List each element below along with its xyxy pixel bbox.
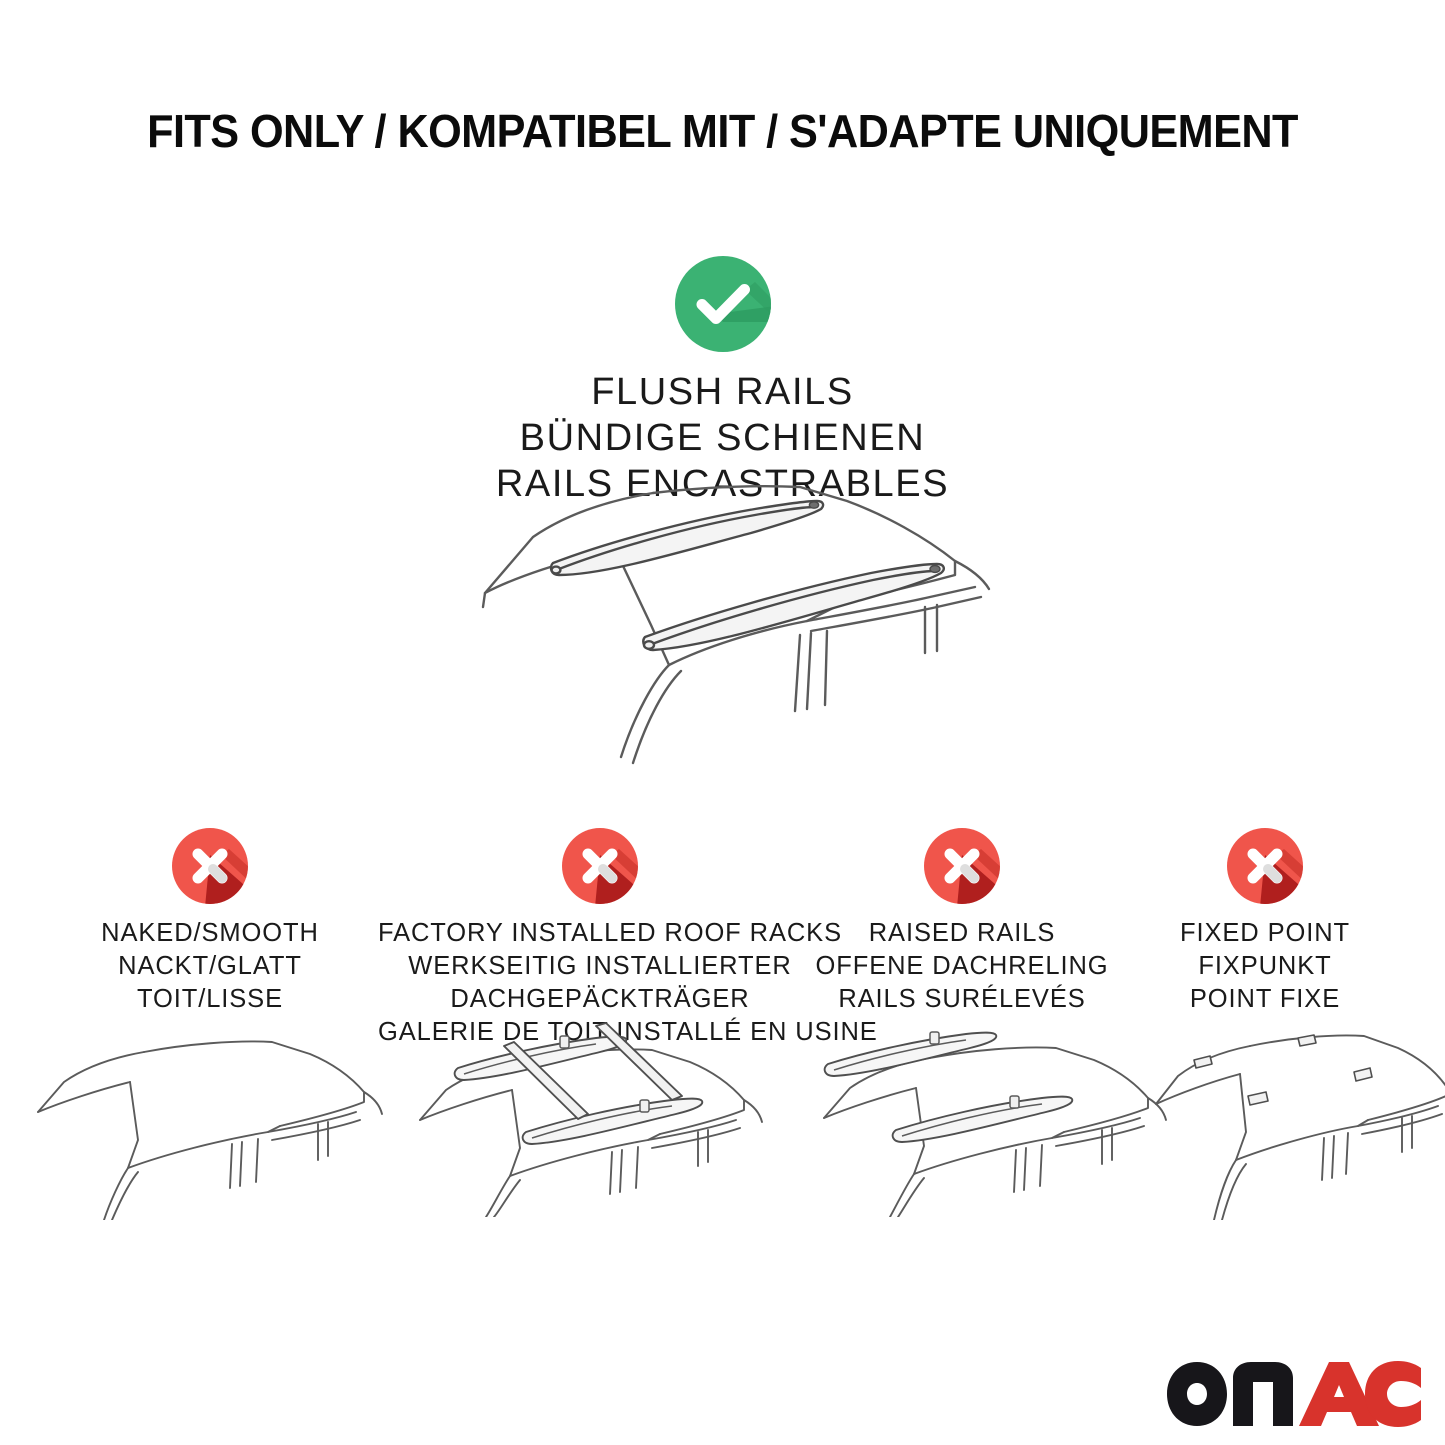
car-roof-raised-rails-illustration <box>812 1012 1172 1217</box>
page-title: FITS ONLY / KOMPATIBEL MIT / S'ADAPTE UN… <box>43 104 1401 158</box>
label-de: FIXPUNKT <box>1125 950 1405 983</box>
logo-letter-o <box>1167 1362 1227 1426</box>
compatible-label-en: FLUSH RAILS <box>0 370 1445 416</box>
brand-logo-omac <box>1163 1356 1425 1434</box>
incompatible-item-naked-smooth: NAKED/SMOOTH NACKT/GLATT TOIT/LISSE <box>60 825 360 1016</box>
car-roof-naked-illustration <box>26 1020 386 1220</box>
x-circle-icon <box>921 825 1003 907</box>
label-fr: TOIT/LISSE <box>60 983 360 1016</box>
label-en: FIXED POINT <box>1125 917 1405 950</box>
label-en: NAKED/SMOOTH <box>60 917 360 950</box>
car-roof-flush-rails-illustration <box>455 465 1015 785</box>
label-de: OFFENE DACHRELING <box>812 950 1112 983</box>
label-en: FACTORY INSTALLED ROOF RACKS <box>378 917 822 950</box>
compatible-label-de: BÜNDIGE SCHIENEN <box>0 416 1445 462</box>
incompatible-item-fixed-point: FIXED POINT FIXPUNKT POINT FIXE <box>1125 825 1405 1016</box>
incompatible-item-raised-rails: RAISED RAILS OFFENE DACHRELING RAILS SUR… <box>812 825 1112 1016</box>
compatibility-infographic: FITS ONLY / KOMPATIBEL MIT / S'ADAPTE UN… <box>0 0 1445 1445</box>
label-de: NACKT/GLATT <box>60 950 360 983</box>
x-circle-icon <box>169 825 251 907</box>
x-circle-icon <box>1224 825 1306 907</box>
car-roof-fixed-point-illustration <box>1150 1020 1445 1220</box>
check-circle-icon <box>671 252 775 356</box>
label-group: FIXED POINT FIXPUNKT POINT FIXE <box>1125 917 1405 1016</box>
logo-letter-m <box>1233 1362 1293 1426</box>
label-en: RAISED RAILS <box>812 917 1112 950</box>
label-de-1: WERKSEITIG INSTALLIERTER <box>378 950 822 983</box>
car-roof-factory-racks-illustration <box>400 1002 770 1217</box>
x-circle-icon <box>559 825 641 907</box>
logo-letter-c <box>1365 1361 1421 1427</box>
label-group: RAISED RAILS OFFENE DACHRELING RAILS SUR… <box>812 917 1112 1016</box>
label-group: NAKED/SMOOTH NACKT/GLATT TOIT/LISSE <box>60 917 360 1016</box>
